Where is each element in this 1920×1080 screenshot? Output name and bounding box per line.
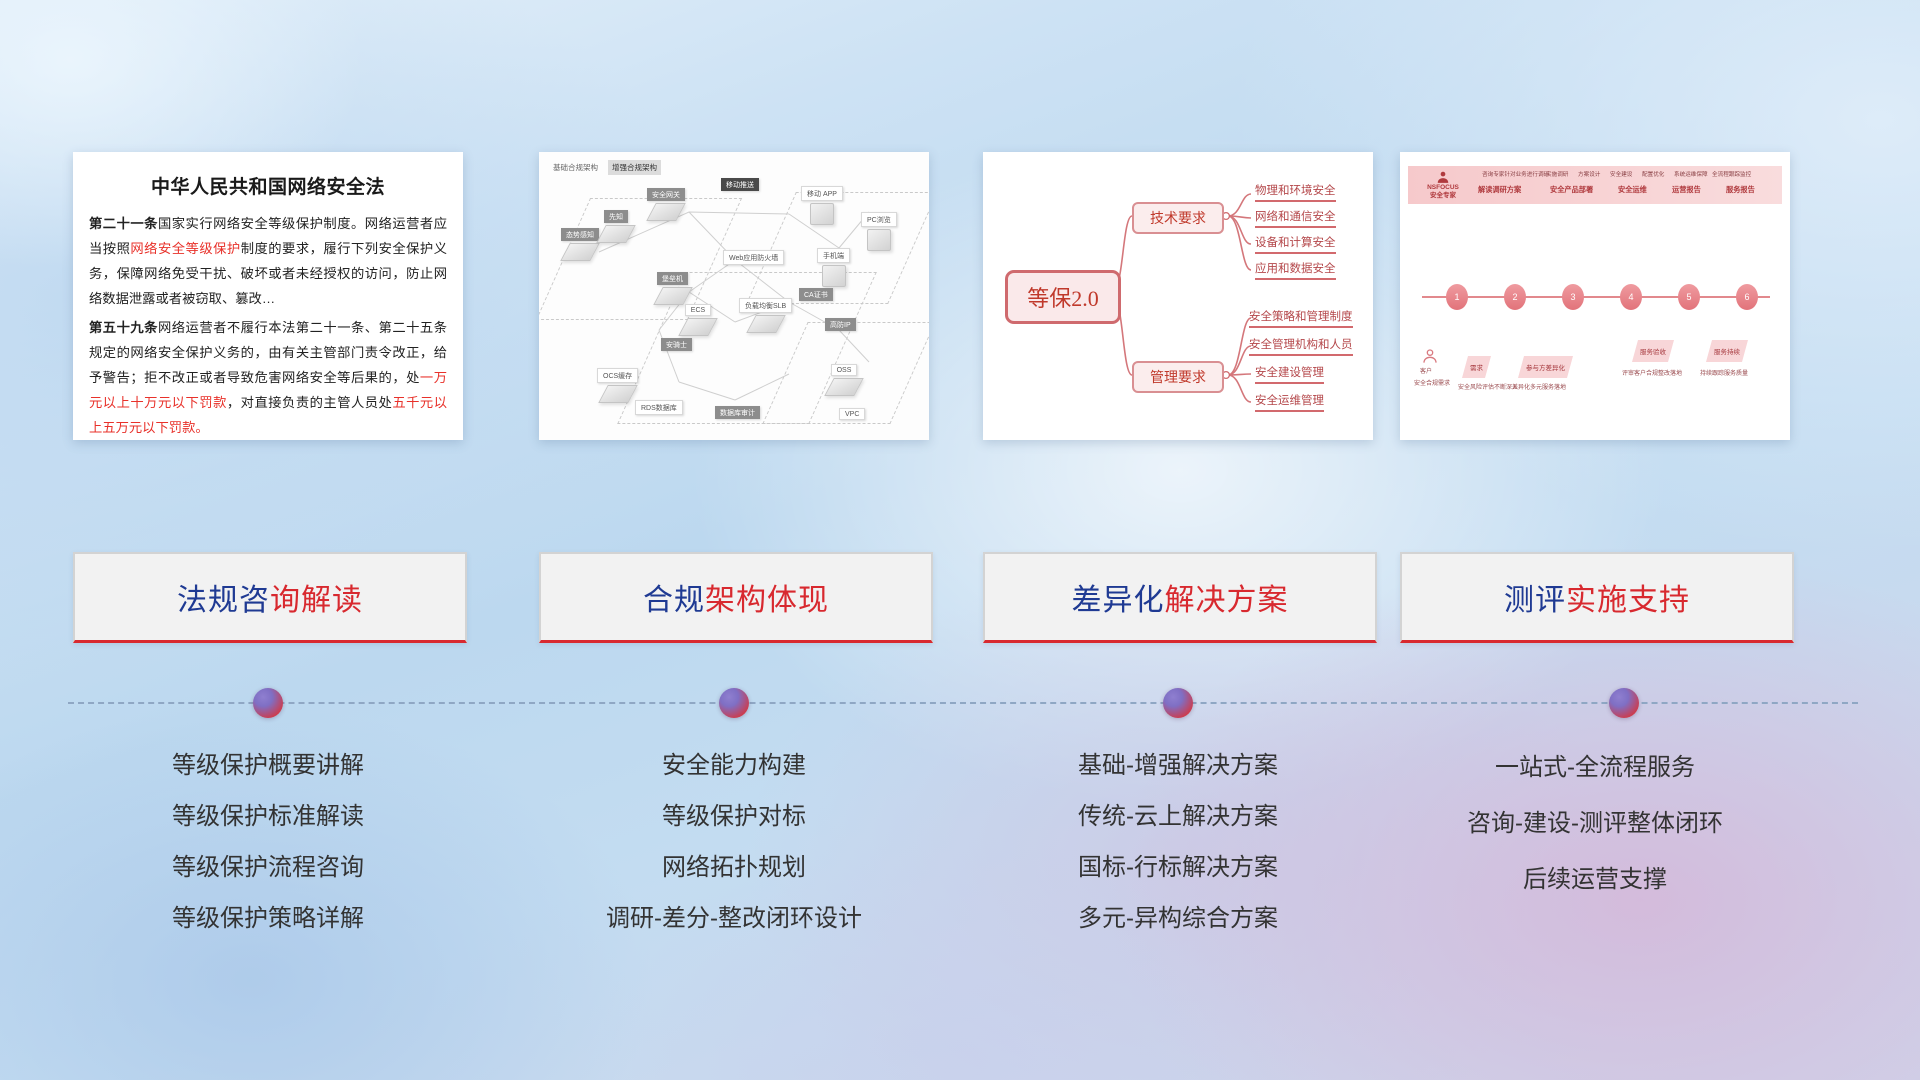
server-cube-icon bbox=[560, 243, 600, 261]
list-item: 调研-差分-整改闭环设计 bbox=[539, 893, 929, 944]
list-item: 一站式-全流程服务 bbox=[1400, 740, 1790, 796]
nsfocus-step[interactable]: 6 bbox=[1736, 284, 1758, 310]
headline-text-red: 实施支持 bbox=[1566, 575, 1690, 619]
arch-node-label: RDS数据库 bbox=[635, 400, 683, 415]
image-card-row: 中华人民共和国网络安全法 第二十一条国家实行网络安全等级保护制度。网络运营者应当… bbox=[0, 152, 1920, 442]
arch-node-bastion-host: 堡垒机 bbox=[657, 272, 688, 305]
list-item: 传统-云上解决方案 bbox=[983, 791, 1373, 842]
nsfocus-timeline-axis bbox=[1422, 296, 1770, 298]
headline-text-red: 架构体现 bbox=[705, 575, 829, 619]
headline-text-blue: 测评 bbox=[1504, 575, 1566, 619]
mindmap-branch-management[interactable]: 管理要求 bbox=[1132, 361, 1224, 393]
card-compliance-architecture: 基础合规架构 增强合规架构 bbox=[539, 152, 929, 440]
nsfocus-tag: 服务持续 bbox=[1706, 340, 1748, 362]
nsfocus-step[interactable]: 3 bbox=[1562, 284, 1584, 310]
article-21-label: 第二十一条 bbox=[89, 216, 158, 231]
law-document: 中华人民共和国网络安全法 第二十一条国家实行网络安全等级保护制度。网络运营者应当… bbox=[73, 152, 463, 440]
arch-node-label: 先知 bbox=[604, 210, 628, 223]
timeline-dot-2[interactable] bbox=[719, 688, 749, 718]
list-item: 后续运营支撑 bbox=[1400, 852, 1790, 908]
detail-list-compliance-architecture: 安全能力构建 等级保护对标 网络拓扑规划 调研-差分-整改闭环设计 bbox=[539, 740, 929, 944]
server-cube-icon bbox=[653, 287, 693, 305]
list-item: 安全能力构建 bbox=[539, 740, 929, 791]
nsfocus-label-customer: 客户 bbox=[1420, 366, 1432, 375]
arch-node-ocs-cache: OCS缓存 bbox=[597, 368, 638, 403]
arch-node-xianzhi: 先知 bbox=[601, 210, 631, 243]
arch-node-situational-awareness: 态势感知 bbox=[561, 228, 599, 261]
headline-text-blue: 差异化 bbox=[1072, 575, 1165, 619]
article-59-label: 第五十九条 bbox=[89, 320, 158, 335]
nsfocus-header-cell: 方案设计 bbox=[1578, 170, 1600, 178]
arch-node-oss: OSS bbox=[829, 364, 859, 396]
nsfocus-brand-line2: 安全专家 bbox=[1430, 192, 1456, 200]
nsfocus-tag: 需求 bbox=[1462, 356, 1491, 378]
architecture-diagram: 基础合规架构 增强合规架构 bbox=[539, 152, 929, 440]
nsfocus-sub-cell: 解读调研方案 bbox=[1478, 185, 1521, 195]
list-item: 等级保护流程咨询 bbox=[73, 842, 463, 893]
arch-node-anti-ddos-ip: 高防IP bbox=[825, 318, 856, 331]
arch-node-label: VPC bbox=[839, 408, 865, 420]
card-mindmap-dengbao: 等保2.0 技术要求 管理要求 物理和环境安全 网络和通信安全 设备和计算安全 … bbox=[983, 152, 1373, 440]
list-item: 等级保护概要讲解 bbox=[73, 740, 463, 791]
nsfocus-step[interactable]: 1 bbox=[1446, 284, 1468, 310]
mindmap-leaf[interactable]: 安全运维管理 bbox=[1255, 392, 1324, 412]
mindmap-leaf[interactable]: 物理和环境安全 bbox=[1255, 182, 1336, 202]
nsfocus-tag: 服务验收 bbox=[1632, 340, 1674, 362]
headline-box-evaluation-support[interactable]: 测评实施支持 bbox=[1400, 552, 1794, 643]
mindmap-leaf[interactable]: 安全管理机构和人员 bbox=[1249, 336, 1353, 356]
arch-node-label: 态势感知 bbox=[561, 228, 599, 241]
list-item: 等级保护对标 bbox=[539, 791, 929, 842]
arch-node-label: PC浏览 bbox=[861, 212, 897, 227]
arch-node-anqishi: 安骑士 bbox=[661, 338, 692, 351]
arch-node-vpc: VPC bbox=[839, 408, 865, 420]
arch-node-label: 安全网关 bbox=[647, 188, 685, 201]
headline-text-red: 解决方案 bbox=[1165, 575, 1289, 619]
mindmap-leaf[interactable]: 网络和通信安全 bbox=[1255, 208, 1336, 228]
arch-node-label: 负载均衡SLB bbox=[739, 298, 792, 313]
nsfocus-logo: NSFOCUS 安全专家 bbox=[1412, 168, 1474, 202]
nsfocus-header-cell: 配置优化 bbox=[1642, 170, 1664, 178]
arch-node-label: OSS bbox=[831, 364, 858, 376]
nsfocus-sub-cell: 安全产品部署 bbox=[1550, 185, 1593, 195]
article-59-text-2: ，对直接负责的主管人员处 bbox=[227, 395, 392, 410]
mindmap-leaf[interactable]: 安全建设管理 bbox=[1255, 364, 1324, 384]
nsfocus-diagram: NSFOCUS 安全专家 咨询专家针对业务进行调研 实施调研 方案设计 安全建设… bbox=[1400, 152, 1790, 440]
headline-text-blue: 合规 bbox=[643, 575, 705, 619]
nsfocus-caption: 评审客户合规整改落地 bbox=[1622, 368, 1682, 377]
arch-node-slb: 负载均衡SLB bbox=[739, 298, 792, 333]
arch-node-ca-cert: CA证书 bbox=[799, 288, 833, 301]
mindmap-leaf[interactable]: 设备和计算安全 bbox=[1255, 234, 1336, 254]
law-title: 中华人民共和国网络安全法 bbox=[89, 172, 447, 199]
headline-text-red: 询解读 bbox=[270, 575, 363, 619]
nsfocus-header-cell: 咨询专家针对业务进行调研 bbox=[1482, 170, 1549, 178]
mindmap-leaf[interactable]: 安全策略和管理制度 bbox=[1249, 308, 1353, 328]
nsfocus-brand-line1: NSFOCUS bbox=[1427, 184, 1459, 192]
timeline-dot-1[interactable] bbox=[253, 688, 283, 718]
detail-list-differentiated-solution: 基础-增强解决方案 传统-云上解决方案 国标-行标解决方案 多元-异构综合方案 bbox=[983, 740, 1373, 944]
section-headline-row: 法规咨询解读 合规架构体现 差异化解决方案 测评实施支持 bbox=[0, 552, 1920, 640]
timeline-dashed-line bbox=[68, 702, 1858, 704]
article-21-highlight: 网络安全等级保护 bbox=[130, 241, 240, 256]
arch-node-phone: 手机端 bbox=[817, 248, 850, 287]
device-icon bbox=[822, 265, 846, 287]
nsfocus-step[interactable]: 2 bbox=[1504, 284, 1526, 310]
arch-node-label: 高防IP bbox=[825, 318, 856, 331]
detail-list-regulation-consulting: 等级保护概要讲解 等级保护标准解读 等级保护流程咨询 等级保护策略详解 bbox=[73, 740, 463, 944]
detail-list-evaluation-support: 一站式-全流程服务 咨询-建设-测评整体闭环 后续运营支撑 bbox=[1400, 740, 1790, 908]
headline-box-compliance-architecture[interactable]: 合规架构体现 bbox=[539, 552, 933, 643]
mindmap-leaf[interactable]: 应用和数据安全 bbox=[1255, 260, 1336, 280]
headline-box-differentiated-solution[interactable]: 差异化解决方案 bbox=[983, 552, 1377, 643]
list-item: 国标-行标解决方案 bbox=[983, 842, 1373, 893]
nsfocus-caption: 安全风险评估不断深入 bbox=[1458, 382, 1518, 391]
law-article-59: 第五十九条网络运营者不履行本法第二十一条、第二十五条规定的网络安全保护义务的，由… bbox=[89, 315, 447, 440]
card-cybersecurity-law: 中华人民共和国网络安全法 第二十一条国家实行网络安全等级保护制度。网络运营者应当… bbox=[73, 152, 463, 440]
arch-node-ecs: ECS bbox=[683, 304, 713, 336]
timeline bbox=[0, 688, 1920, 718]
arch-node-label: 数据库审计 bbox=[715, 406, 760, 419]
arch-node-label: Web应用防火墙 bbox=[723, 250, 784, 265]
mindmap-branch-technical[interactable]: 技术要求 bbox=[1132, 202, 1224, 234]
mindmap: 等保2.0 技术要求 管理要求 物理和环境安全 网络和通信安全 设备和计算安全 … bbox=[983, 152, 1373, 440]
arch-node-label: 安骑士 bbox=[661, 338, 692, 351]
arch-node-label: 堡垒机 bbox=[657, 272, 688, 285]
server-cube-icon bbox=[598, 385, 638, 403]
server-cube-icon bbox=[678, 318, 718, 336]
device-icon bbox=[810, 203, 834, 225]
list-item: 等级保护标准解读 bbox=[73, 791, 463, 842]
card-nsfocus-service-flow: NSFOCUS 安全专家 咨询专家针对业务进行调研 实施调研 方案设计 安全建设… bbox=[1400, 152, 1790, 440]
nsfocus-sub-cell: 安全运维 bbox=[1618, 185, 1647, 195]
arch-node-mobile-app: 移动 APP bbox=[801, 186, 843, 225]
list-item: 咨询-建设-测评整体闭环 bbox=[1400, 796, 1790, 852]
arch-node-label: 移动 APP bbox=[801, 186, 843, 201]
server-cube-icon bbox=[824, 378, 864, 396]
expert-person-icon bbox=[1436, 170, 1450, 184]
nsfocus-caption: 差异化多元服务落地 bbox=[1512, 382, 1566, 391]
arch-node-rds: RDS数据库 bbox=[635, 400, 683, 415]
nsfocus-sub-cell: 运营报告 bbox=[1672, 185, 1701, 195]
arch-node-label: CA证书 bbox=[799, 288, 833, 301]
nsfocus-sub-cell: 服务报告 bbox=[1726, 185, 1755, 195]
arch-node-label: 移动推送 bbox=[721, 178, 759, 191]
headline-text-blue: 法规咨 bbox=[177, 575, 270, 619]
nsfocus-caption: 安全合规需求 bbox=[1414, 378, 1450, 387]
nsfocus-step[interactable]: 4 bbox=[1620, 284, 1642, 310]
server-cube-icon bbox=[746, 315, 786, 333]
list-item: 多元-异构综合方案 bbox=[983, 893, 1373, 944]
law-article-21: 第二十一条国家实行网络安全等级保护制度。网络运营者应当按照网络安全等级保护制度的… bbox=[89, 211, 447, 311]
arch-node-label: 手机端 bbox=[817, 248, 850, 263]
list-item: 基础-增强解决方案 bbox=[983, 740, 1373, 791]
arch-node-db-audit: 数据库审计 bbox=[715, 406, 760, 419]
nsfocus-header-cell: 安全建设 bbox=[1610, 170, 1632, 178]
arch-node-mobile-push: 移动推送 bbox=[721, 178, 759, 191]
nsfocus-step[interactable]: 5 bbox=[1678, 284, 1700, 310]
nsfocus-caption: 持续跟踪服务质量 bbox=[1700, 368, 1748, 377]
timeline-dot-4[interactable] bbox=[1609, 688, 1639, 718]
section-detail-lists: 等级保护概要讲解 等级保护标准解读 等级保护流程咨询 等级保护策略详解 安全能力… bbox=[0, 740, 1920, 1040]
arch-node-label: OCS缓存 bbox=[597, 368, 638, 383]
list-item: 网络拓扑规划 bbox=[539, 842, 929, 893]
device-icon bbox=[867, 229, 891, 251]
nsfocus-header-cell: 全流程跟踪监控 bbox=[1712, 170, 1751, 178]
nsfocus-header-cell: 系统运维保障 bbox=[1674, 170, 1708, 178]
timeline-dot-3[interactable] bbox=[1163, 688, 1193, 718]
nsfocus-header-cell: 实施调研 bbox=[1546, 170, 1568, 178]
nsfocus-tag: 参与方差异化 bbox=[1518, 356, 1573, 378]
list-item: 等级保护策略详解 bbox=[73, 893, 463, 944]
server-cube-icon bbox=[596, 225, 636, 243]
arch-node-pc-browse: PC浏览 bbox=[861, 212, 897, 251]
mindmap-root-node[interactable]: 等保2.0 bbox=[1005, 270, 1121, 324]
slide-root: 中华人民共和国网络安全法 第二十一条国家实行网络安全等级保护制度。网络运营者应当… bbox=[0, 0, 1920, 1080]
server-cube-icon bbox=[646, 203, 686, 221]
arch-node-waf: Web应用防火墙 bbox=[723, 250, 784, 265]
arch-node-label: ECS bbox=[685, 304, 711, 316]
headline-box-regulation-consulting[interactable]: 法规咨询解读 bbox=[73, 552, 467, 643]
arch-node-security-gateway: 安全网关 bbox=[647, 188, 685, 221]
